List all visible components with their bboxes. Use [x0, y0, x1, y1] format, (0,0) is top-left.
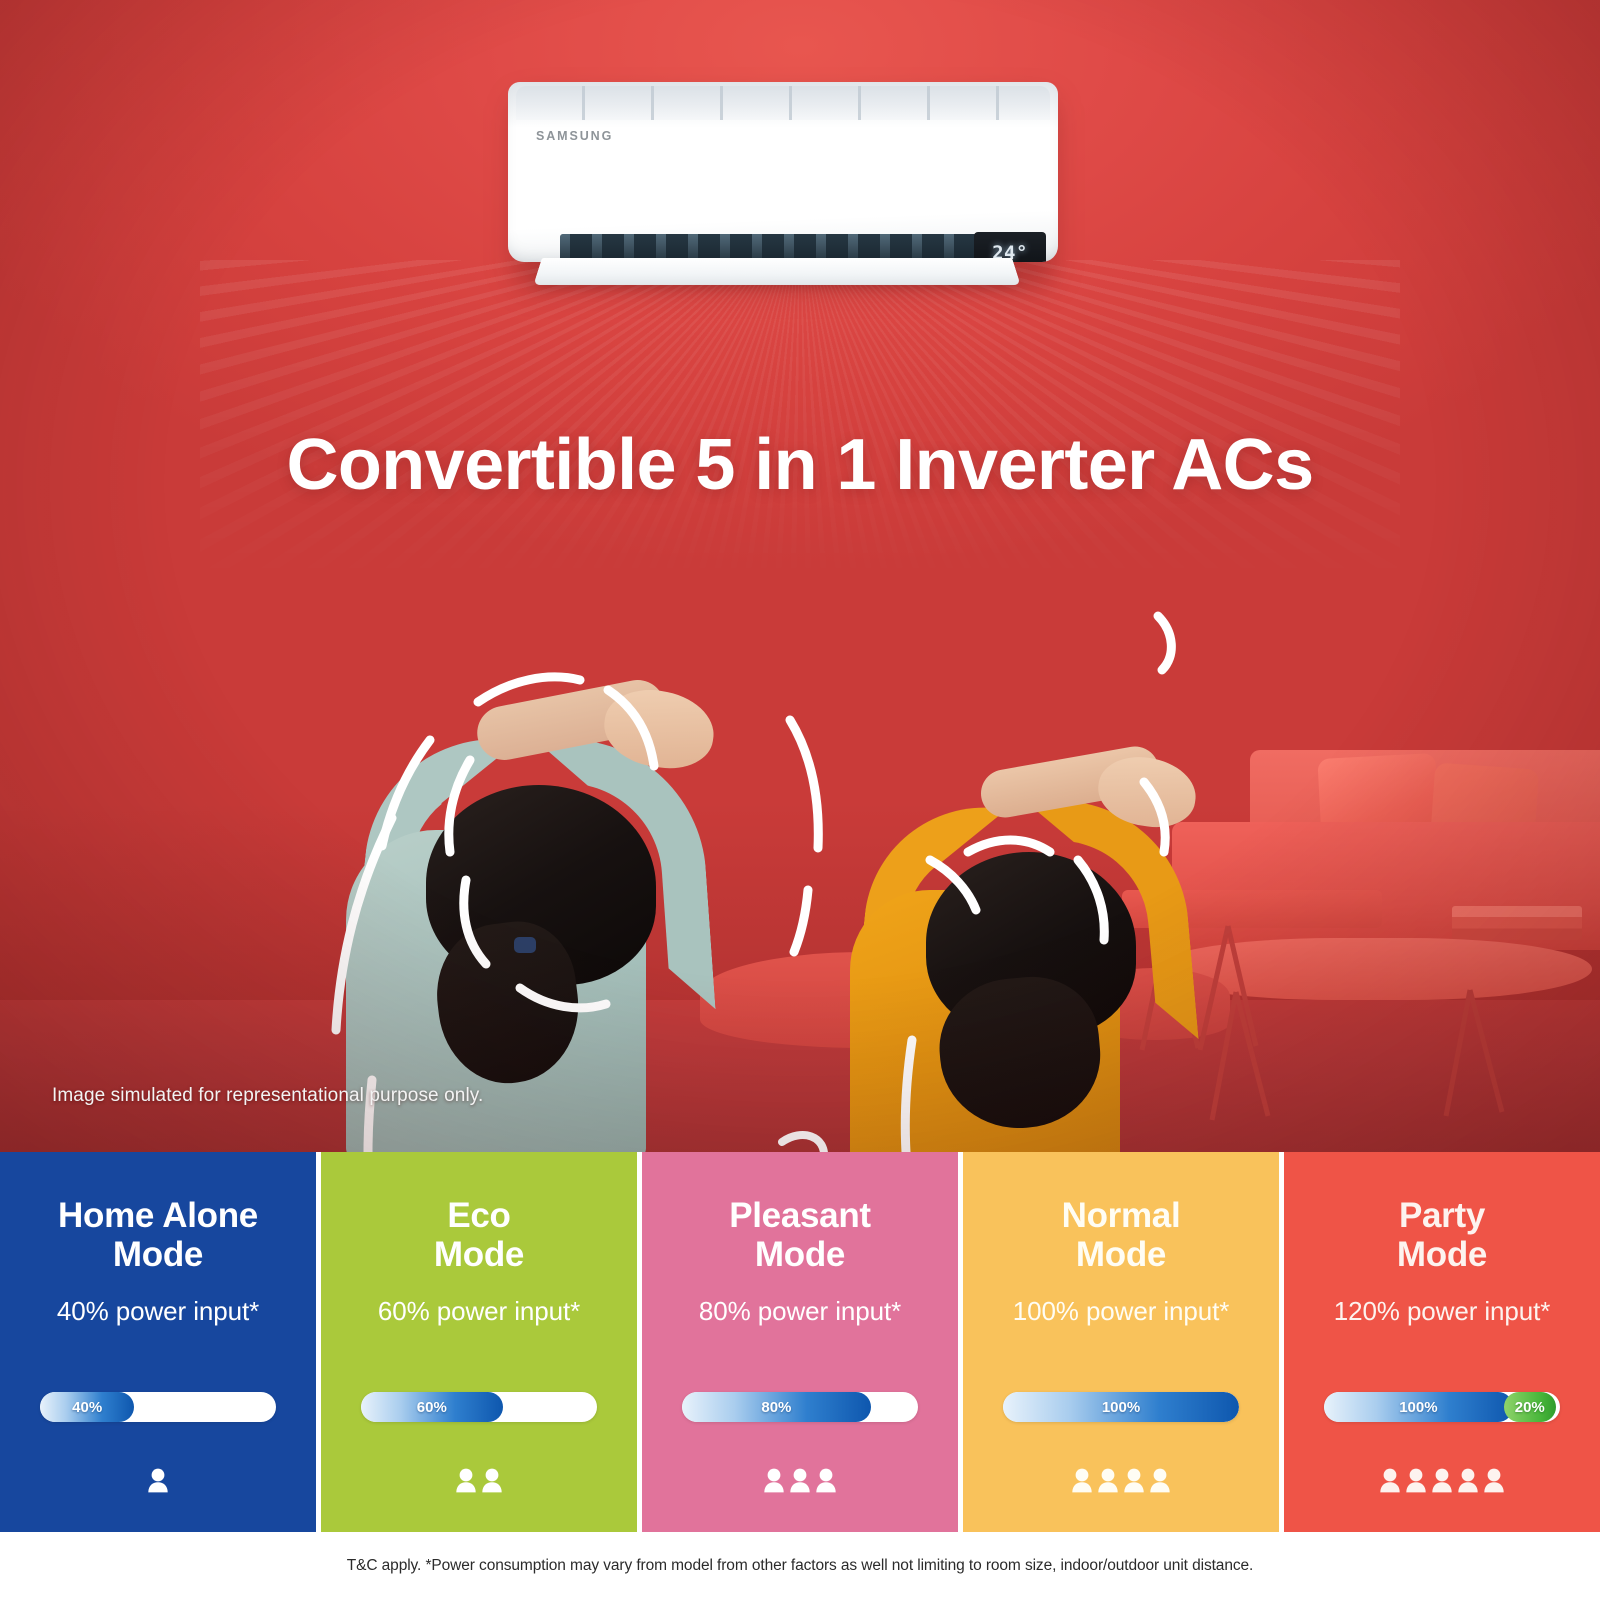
occupancy-people-icons	[764, 1468, 837, 1493]
power-progress-bar: 100%20%	[1324, 1392, 1560, 1422]
person-icon	[1380, 1468, 1401, 1493]
occupancy-people-icons	[1380, 1468, 1505, 1493]
power-progress-fill: 40%	[40, 1392, 134, 1422]
person-icon	[1432, 1468, 1453, 1493]
person-icon	[1098, 1468, 1119, 1493]
person-icon	[482, 1468, 503, 1493]
mode-card-title: EcoMode	[434, 1196, 524, 1274]
mode-card-party[interactable]: PartyMode120% power input*100%20%	[1284, 1152, 1600, 1532]
person-icon	[1150, 1468, 1171, 1493]
mode-card-title-line2: Mode	[58, 1235, 258, 1274]
mode-card-title-line1: Home Alone	[58, 1196, 258, 1235]
mode-card-power-label: 100% power input*	[1013, 1296, 1230, 1327]
mode-cards-row: Home AloneMode40% power input*40%EcoMode…	[0, 1152, 1600, 1532]
mode-card-title-line1: Party	[1397, 1196, 1487, 1235]
mode-card-title-line1: Normal	[1062, 1196, 1181, 1235]
person-icon	[148, 1468, 169, 1493]
person-icon	[1406, 1468, 1427, 1493]
mode-card-title: PartyMode	[1397, 1196, 1487, 1274]
power-progress-fill: 80%	[682, 1392, 871, 1422]
mode-card-title-line2: Mode	[1397, 1235, 1487, 1274]
occupancy-people-icons	[148, 1468, 169, 1493]
person-icon	[456, 1468, 477, 1493]
mode-card-title: Home AloneMode	[58, 1196, 258, 1274]
footer: T&C apply. *Power consumption may vary f…	[0, 1532, 1600, 1600]
person-icon	[1072, 1468, 1093, 1493]
person-icon	[1484, 1468, 1505, 1493]
mode-card-home-alone[interactable]: Home AloneMode40% power input*40%	[0, 1152, 316, 1532]
power-progress-boost-segment: 20%	[1504, 1392, 1556, 1422]
power-progress-fill: 100%	[1003, 1392, 1239, 1422]
occupancy-people-icons	[456, 1468, 503, 1493]
power-progress-bar: 60%	[361, 1392, 597, 1422]
hero-section: SAMSUNG 24° Convertible 5 in 1 Inverter …	[0, 0, 1600, 1152]
mode-card-pleasant[interactable]: PleasantMode80% power input*80%	[642, 1152, 958, 1532]
power-progress-fill: 100%	[1324, 1392, 1513, 1422]
occupancy-people-icons	[1072, 1468, 1171, 1493]
power-progress-fill: 60%	[361, 1392, 503, 1422]
mode-card-title-line2: Mode	[434, 1235, 524, 1274]
footer-disclaimer: T&C apply. *Power consumption may vary f…	[347, 1557, 1253, 1575]
mode-card-title-line1: Pleasant	[729, 1196, 871, 1235]
power-progress-bar: 40%	[40, 1392, 276, 1422]
power-progress-bar: 100%	[1003, 1392, 1239, 1422]
mode-card-power-label: 120% power input*	[1334, 1296, 1551, 1327]
mode-card-title: NormalMode	[1062, 1196, 1181, 1274]
mode-card-normal[interactable]: NormalMode100% power input*100%	[963, 1152, 1279, 1532]
person-icon	[1124, 1468, 1145, 1493]
hero-disclaimer: Image simulated for representational pur…	[52, 1085, 483, 1107]
person-icon	[764, 1468, 785, 1493]
mode-card-power-label: 80% power input*	[699, 1296, 901, 1327]
mode-card-power-label: 40% power input*	[57, 1296, 259, 1327]
person-icon	[1458, 1468, 1479, 1493]
mode-card-power-label: 60% power input*	[378, 1296, 580, 1327]
power-progress-bar: 80%	[682, 1392, 918, 1422]
mode-card-title: PleasantMode	[729, 1196, 871, 1274]
mode-card-title-line2: Mode	[1062, 1235, 1181, 1274]
person-icon	[816, 1468, 837, 1493]
mode-card-title-line1: Eco	[434, 1196, 524, 1235]
mode-card-eco[interactable]: EcoMode60% power input*60%	[321, 1152, 637, 1532]
mode-card-title-line2: Mode	[729, 1235, 871, 1274]
person-icon	[790, 1468, 811, 1493]
hero-vignette	[0, 0, 1600, 1152]
promo-page: SAMSUNG 24° Convertible 5 in 1 Inverter …	[0, 0, 1600, 1600]
